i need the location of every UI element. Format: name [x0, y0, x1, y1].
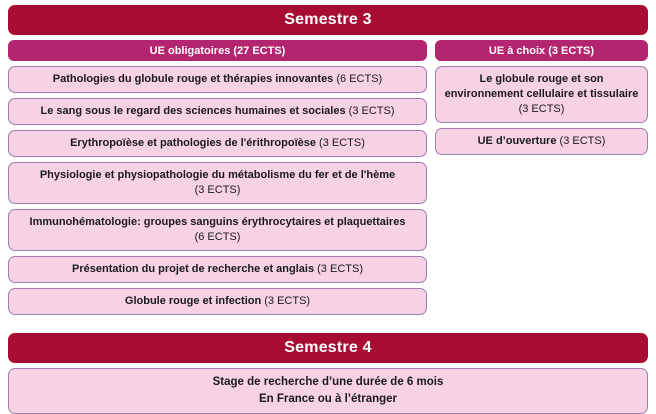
course-name: Le globule rouge et son environnement ce…	[444, 72, 639, 102]
course-ects: (6 ECTS)	[195, 230, 241, 245]
course-name: Immunohématologie: groupes sanguins éryt…	[30, 215, 406, 230]
course-name: Erythropoïèse et pathologies de l'érithr…	[70, 137, 316, 149]
course-box: Globule rouge et infection (3 ECTS)	[8, 288, 427, 315]
course-ects: (3 ECTS)	[264, 295, 310, 307]
internship-line-1: Stage de recherche d’une durée de 6 mois	[213, 374, 444, 391]
course-box: UE d’ouverture (3 ECTS)	[435, 128, 648, 155]
semester-4-banner: Semestre 4	[8, 333, 648, 363]
internship-line-2: En France ou à l’étranger	[259, 391, 397, 408]
internship-box: Stage de recherche d’une durée de 6 mois…	[8, 368, 648, 414]
course-name: UE d’ouverture	[478, 135, 557, 147]
elective-course-list: Le globule rouge et son environnement ce…	[435, 66, 648, 155]
course-box: Présentation du projet de recherche et a…	[8, 256, 427, 283]
course-name: Pathologies du globule rouge et thérapie…	[53, 73, 334, 85]
course-ects: (6 ECTS)	[336, 73, 382, 85]
mandatory-column: UE obligatoires (27 ECTS) Pathologies du…	[8, 40, 427, 315]
course-ects: (3 ECTS)	[317, 263, 363, 275]
mandatory-group-header: UE obligatoires (27 ECTS)	[8, 40, 427, 61]
mandatory-course-list: Pathologies du globule rouge et thérapie…	[8, 66, 427, 315]
curriculum-diagram: Semestre 3 UE obligatoires (27 ECTS) Pat…	[0, 5, 656, 410]
course-ects: (3 ECTS)	[195, 183, 241, 198]
course-box: Erythropoïèse et pathologies de l'érithr…	[8, 130, 427, 157]
course-name: Présentation du projet de recherche et a…	[72, 263, 314, 275]
semester-4-section: Semestre 4 Stage de recherche d’une duré…	[8, 333, 648, 414]
course-ects: (3 ECTS)	[560, 135, 606, 147]
course-ects: (3 ECTS)	[319, 137, 365, 149]
course-box: Le globule rouge et son environnement ce…	[435, 66, 648, 123]
elective-column: UE à choix (3 ECTS) Le globule rouge et …	[435, 40, 648, 155]
course-name: Physiologie et physiopathologie du métab…	[40, 168, 395, 183]
course-ects: (3 ECTS)	[519, 102, 565, 117]
course-name: Globule rouge et infection	[125, 295, 261, 307]
elective-group-header: UE à choix (3 ECTS)	[435, 40, 648, 61]
course-box: Immunohématologie: groupes sanguins éryt…	[8, 209, 427, 251]
course-name: Le sang sous le regard des sciences huma…	[41, 105, 346, 117]
semester-3-banner: Semestre 3	[8, 5, 648, 35]
course-box: Pathologies du globule rouge et thérapie…	[8, 66, 427, 93]
course-ects: (3 ECTS)	[349, 105, 395, 117]
semester-3-columns: UE obligatoires (27 ECTS) Pathologies du…	[8, 40, 648, 315]
course-box: Physiologie et physiopathologie du métab…	[8, 162, 427, 204]
course-box: Le sang sous le regard des sciences huma…	[8, 98, 427, 125]
